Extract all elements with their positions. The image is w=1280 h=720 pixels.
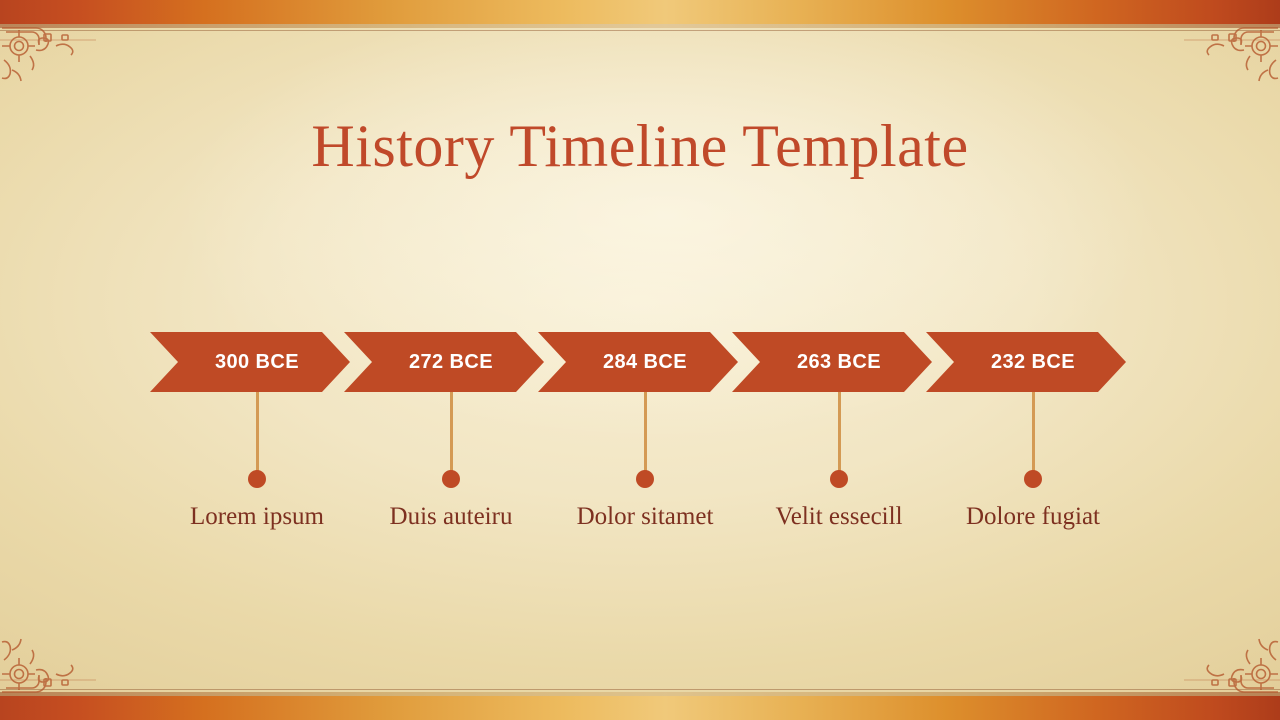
timeline-chevron-row: 300 BCE272 BCE284 BCE263 BCE232 BCE	[150, 332, 1130, 392]
timeline-milestone-label: Lorem ipsum	[190, 503, 324, 531]
corner-ornament-icon	[1184, 26, 1280, 106]
page-title: History Timeline Template	[0, 112, 1280, 181]
timeline-connector-line	[1032, 392, 1035, 474]
chevron-date-label: 284 BCE	[589, 351, 687, 374]
timeline-milestone-dot[interactable]	[830, 470, 848, 488]
chevron-date-label: 263 BCE	[783, 351, 881, 374]
timeline-chevron[interactable]: 232 BCE	[926, 332, 1126, 392]
timeline-chevron[interactable]: 284 BCE	[538, 332, 738, 392]
timeline-connector-line	[644, 392, 647, 474]
timeline-milestone-label: Dolore fugiat	[966, 503, 1100, 531]
top-band-edge	[0, 24, 1280, 28]
corner-ornament-icon	[1184, 614, 1280, 694]
timeline-chevron[interactable]: 272 BCE	[344, 332, 544, 392]
top-decorative-band	[0, 0, 1280, 24]
bottom-hairline-divider	[0, 689, 1280, 690]
bottom-band-edge	[0, 692, 1280, 696]
timeline-connector-line	[838, 392, 841, 474]
bottom-decorative-band	[0, 696, 1280, 720]
slide-canvas: History Timeline Template 300 BCE272 BCE…	[0, 0, 1280, 720]
corner-ornament-icon	[0, 614, 96, 694]
timeline-milestone-dot[interactable]	[442, 470, 460, 488]
timeline-milestone-dot[interactable]	[1024, 470, 1042, 488]
timeline-milestone-label: Duis auteiru	[390, 503, 513, 531]
timeline-milestone-dot[interactable]	[248, 470, 266, 488]
chevron-date-label: 272 BCE	[395, 351, 493, 374]
timeline-milestone-label: Dolor sitamet	[577, 503, 714, 531]
corner-ornament-icon	[0, 26, 96, 106]
timeline-chevron[interactable]: 263 BCE	[732, 332, 932, 392]
chevron-date-label: 232 BCE	[977, 351, 1075, 374]
timeline-connector-line	[450, 392, 453, 474]
timeline-connector-line	[256, 392, 259, 474]
timeline-milestone-label: Velit essecill	[775, 503, 902, 531]
chevron-date-label: 300 BCE	[201, 351, 299, 374]
timeline-milestone-dot[interactable]	[636, 470, 654, 488]
timeline-chevron[interactable]: 300 BCE	[150, 332, 350, 392]
top-hairline-divider	[0, 30, 1280, 31]
